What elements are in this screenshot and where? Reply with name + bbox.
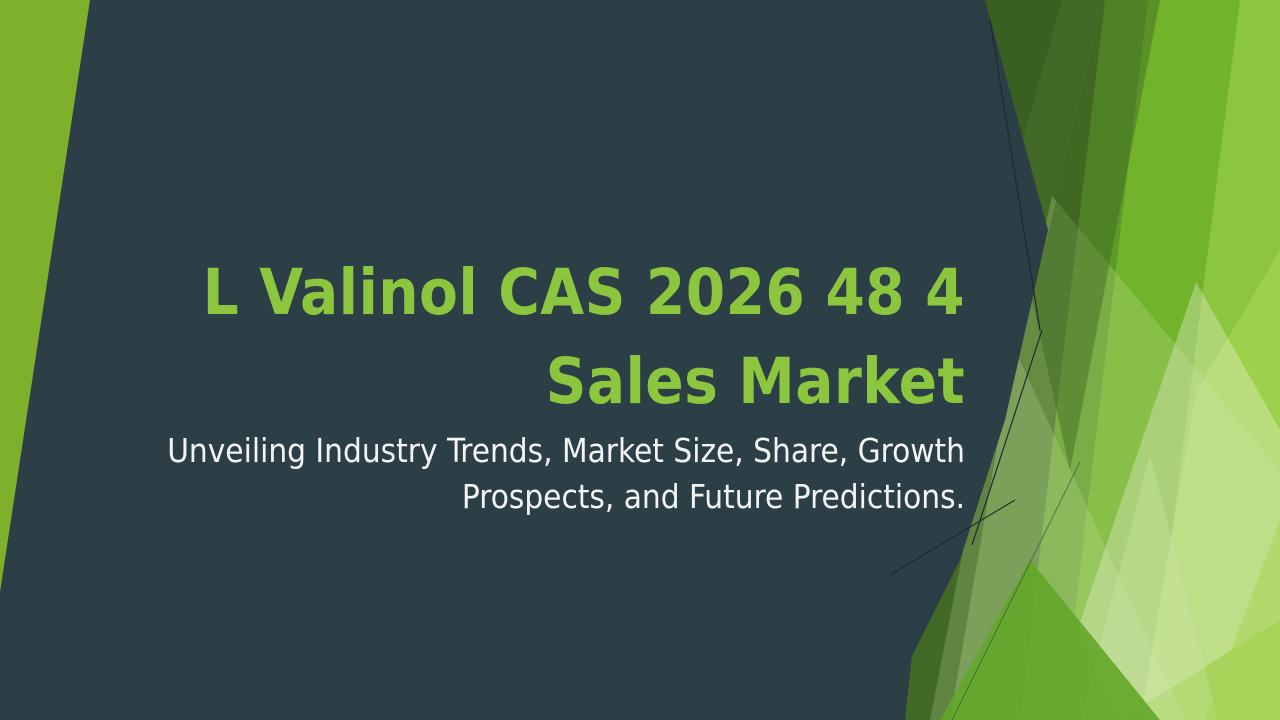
subtitle-placeholder[interactable]: Unveiling Industry Trends, Market Size, … <box>110 428 965 520</box>
presentation-slide: L Valinol CAS 2026 48 4 Sales Market Unv… <box>0 0 1280 720</box>
slide-subtitle: Unveiling Industry Trends, Market Size, … <box>110 428 965 520</box>
title-placeholder[interactable]: L Valinol CAS 2026 48 4 Sales Market <box>110 248 965 427</box>
slide-text-layer: L Valinol CAS 2026 48 4 Sales Market Unv… <box>0 0 1000 720</box>
page-title: L Valinol CAS 2026 48 4 Sales Market <box>110 248 965 427</box>
